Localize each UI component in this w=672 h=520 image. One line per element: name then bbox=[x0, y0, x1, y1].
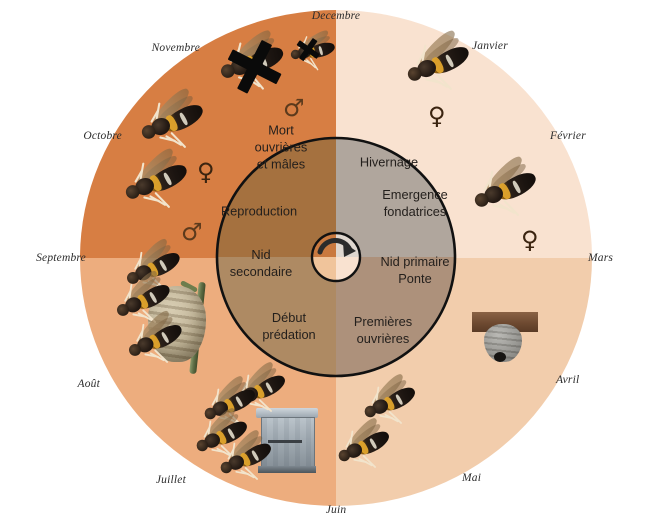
month-label-avril: Avril bbox=[556, 374, 579, 386]
stage-label-debut-predation: Début prédation bbox=[262, 310, 315, 344]
month-label-aout: Août bbox=[77, 378, 100, 390]
month-label-mai: Mai bbox=[462, 472, 481, 484]
stage-label-premieres-ouvrieres: Premières ouvrières bbox=[354, 314, 412, 348]
month-label-novembre: Novembre bbox=[152, 42, 200, 54]
hub-group bbox=[312, 233, 360, 281]
male-symbol-male-novembre: ♂ bbox=[283, 96, 305, 120]
stage-label-mort-ouvrieres-males: Mort ouvrières et mâles bbox=[255, 123, 308, 174]
stage-label-nid-secondaire: Nid secondaire bbox=[230, 247, 293, 281]
female-symbol-female-octobre: ♀ bbox=[197, 160, 215, 184]
month-label-octobre: Octobre bbox=[83, 130, 122, 142]
month-label-mars: Mars bbox=[588, 252, 613, 264]
female-symbol-female-mars: ♀ bbox=[521, 228, 539, 252]
stage-label-hivernage: Hivernage bbox=[360, 155, 418, 172]
month-label-janvier: Janvier bbox=[472, 40, 508, 52]
month-label-juin: Juin bbox=[326, 504, 347, 516]
month-label-fevrier: Février bbox=[550, 130, 586, 142]
stage-label-reproduction: Reproduction bbox=[221, 204, 297, 221]
month-label-decembre: Decembre bbox=[312, 10, 360, 22]
dead-cross-icon bbox=[296, 37, 321, 62]
stage-label-emergence-fondatrices: Emergence fondatrices bbox=[382, 187, 447, 221]
female-symbol-female-janvier: ♀ bbox=[428, 104, 446, 128]
stage-label-nid-primaire-ponte: Nid primaire Ponte bbox=[381, 254, 450, 288]
annual-cycle-diagram: ♂♀♀♀♂ Mort ouvrières et mâlesReproductio… bbox=[0, 0, 672, 520]
primary-nest-photo bbox=[472, 312, 538, 366]
month-label-septembre: Septembre bbox=[36, 252, 86, 264]
month-label-juillet: Juillet bbox=[156, 474, 186, 486]
male-symbol-male-septembre: ♂ bbox=[181, 220, 203, 244]
